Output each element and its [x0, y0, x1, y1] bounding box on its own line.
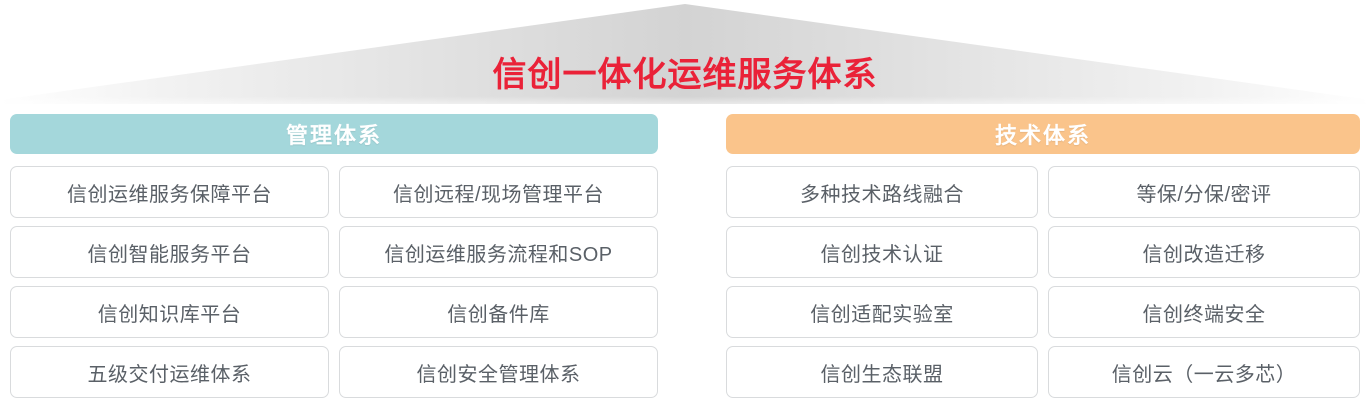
panel-grid-technology: 多种技术路线融合 等保/分保/密评 信创技术认证 信创改造迁移 信创适配实验室 …: [726, 166, 1360, 398]
cell-technology-2[interactable]: 等保/分保/密评: [1048, 166, 1360, 218]
cell-management-6[interactable]: 信创备件库: [339, 286, 658, 338]
cell-technology-7[interactable]: 信创生态联盟: [726, 346, 1038, 398]
panel-header-technology-label: 技术体系: [995, 118, 1091, 150]
cell-management-2[interactable]: 信创远程/现场管理平台: [339, 166, 658, 218]
panel-grid-management: 信创运维服务保障平台 信创远程/现场管理平台 信创智能服务平台 信创运维服务流程…: [10, 166, 658, 398]
panel-header-management: 管理体系: [10, 114, 658, 154]
page-title: 信创一体化运维服务体系: [0, 54, 1370, 96]
cell-management-5[interactable]: 信创知识库平台: [10, 286, 329, 338]
cell-technology-1[interactable]: 多种技术路线融合: [726, 166, 1038, 218]
cell-technology-8[interactable]: 信创云（一云多芯）: [1048, 346, 1360, 398]
cell-technology-4[interactable]: 信创改造迁移: [1048, 226, 1360, 278]
panel-management: 管理体系 信创运维服务保障平台 信创远程/现场管理平台 信创智能服务平台 信创运…: [10, 114, 658, 398]
panel-header-technology: 技术体系: [726, 114, 1360, 154]
cell-management-8[interactable]: 信创安全管理体系: [339, 346, 658, 398]
cell-management-1[interactable]: 信创运维服务保障平台: [10, 166, 329, 218]
cell-technology-5[interactable]: 信创适配实验室: [726, 286, 1038, 338]
cell-technology-6[interactable]: 信创终端安全: [1048, 286, 1360, 338]
panel-technology: 技术体系 多种技术路线融合 等保/分保/密评 信创技术认证 信创改造迁移 信创适…: [726, 114, 1360, 398]
systems-container: 管理体系 信创运维服务保障平台 信创远程/现场管理平台 信创智能服务平台 信创运…: [0, 114, 1370, 418]
cell-management-4[interactable]: 信创运维服务流程和SOP: [339, 226, 658, 278]
panel-header-management-label: 管理体系: [286, 118, 382, 150]
cell-management-7[interactable]: 五级交付运维体系: [10, 346, 329, 398]
cell-technology-3[interactable]: 信创技术认证: [726, 226, 1038, 278]
cell-management-3[interactable]: 信创智能服务平台: [10, 226, 329, 278]
